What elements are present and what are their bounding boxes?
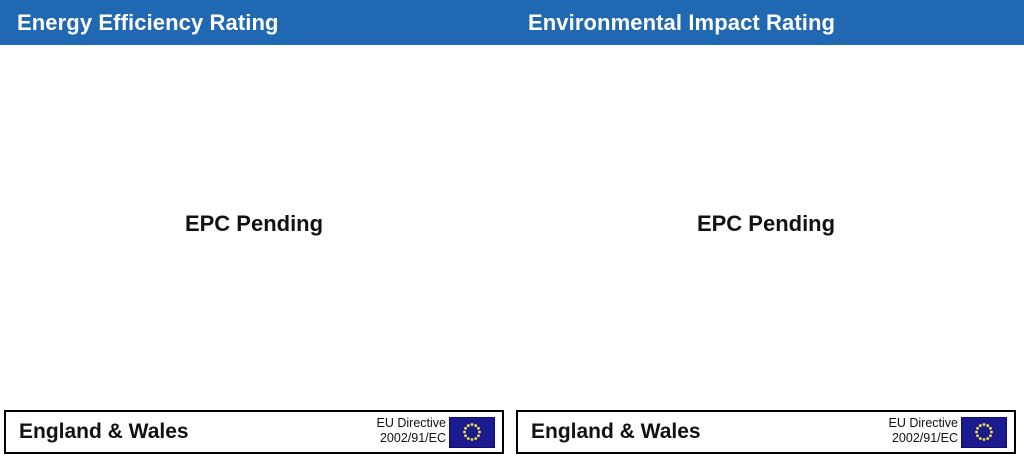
energy-efficiency-panel: EPC Pending England & Wales EU Directive… [0,45,512,457]
environmental-impact-panel: EPC Pending England & Wales EU Directive… [512,45,1024,457]
directive-line-1: EU Directive [334,416,446,431]
energy-efficiency-directive-label: EU Directive 2002/91/EC [334,416,446,446]
epc-rating-graphic: Energy Efficiency Rating Environmental I… [0,0,1024,457]
energy-efficiency-region-label: England & Wales [19,412,189,452]
eu-flag-icon [449,417,495,448]
eu-flag-icon [961,417,1007,448]
environmental-impact-header-title: Environmental Impact Rating [528,0,835,45]
energy-efficiency-chart-area: EPC Pending [0,45,512,365]
directive-line-2: 2002/91/EC [334,431,446,446]
energy-efficiency-pending-message: EPC Pending [0,211,510,237]
environmental-impact-region-label: England & Wales [531,412,701,452]
header-bar: Energy Efficiency Rating Environmental I… [0,0,1024,45]
environmental-impact-footer: England & Wales EU Directive 2002/91/EC [516,410,1016,454]
energy-efficiency-header-title: Energy Efficiency Rating [17,0,279,45]
energy-efficiency-footer: England & Wales EU Directive 2002/91/EC [4,410,504,454]
environmental-impact-pending-message: EPC Pending [510,211,1022,237]
environmental-impact-directive-label: EU Directive 2002/91/EC [846,416,958,446]
directive-line-2: 2002/91/EC [846,431,958,446]
environmental-impact-chart-area: EPC Pending [512,45,1024,365]
directive-line-1: EU Directive [846,416,958,431]
